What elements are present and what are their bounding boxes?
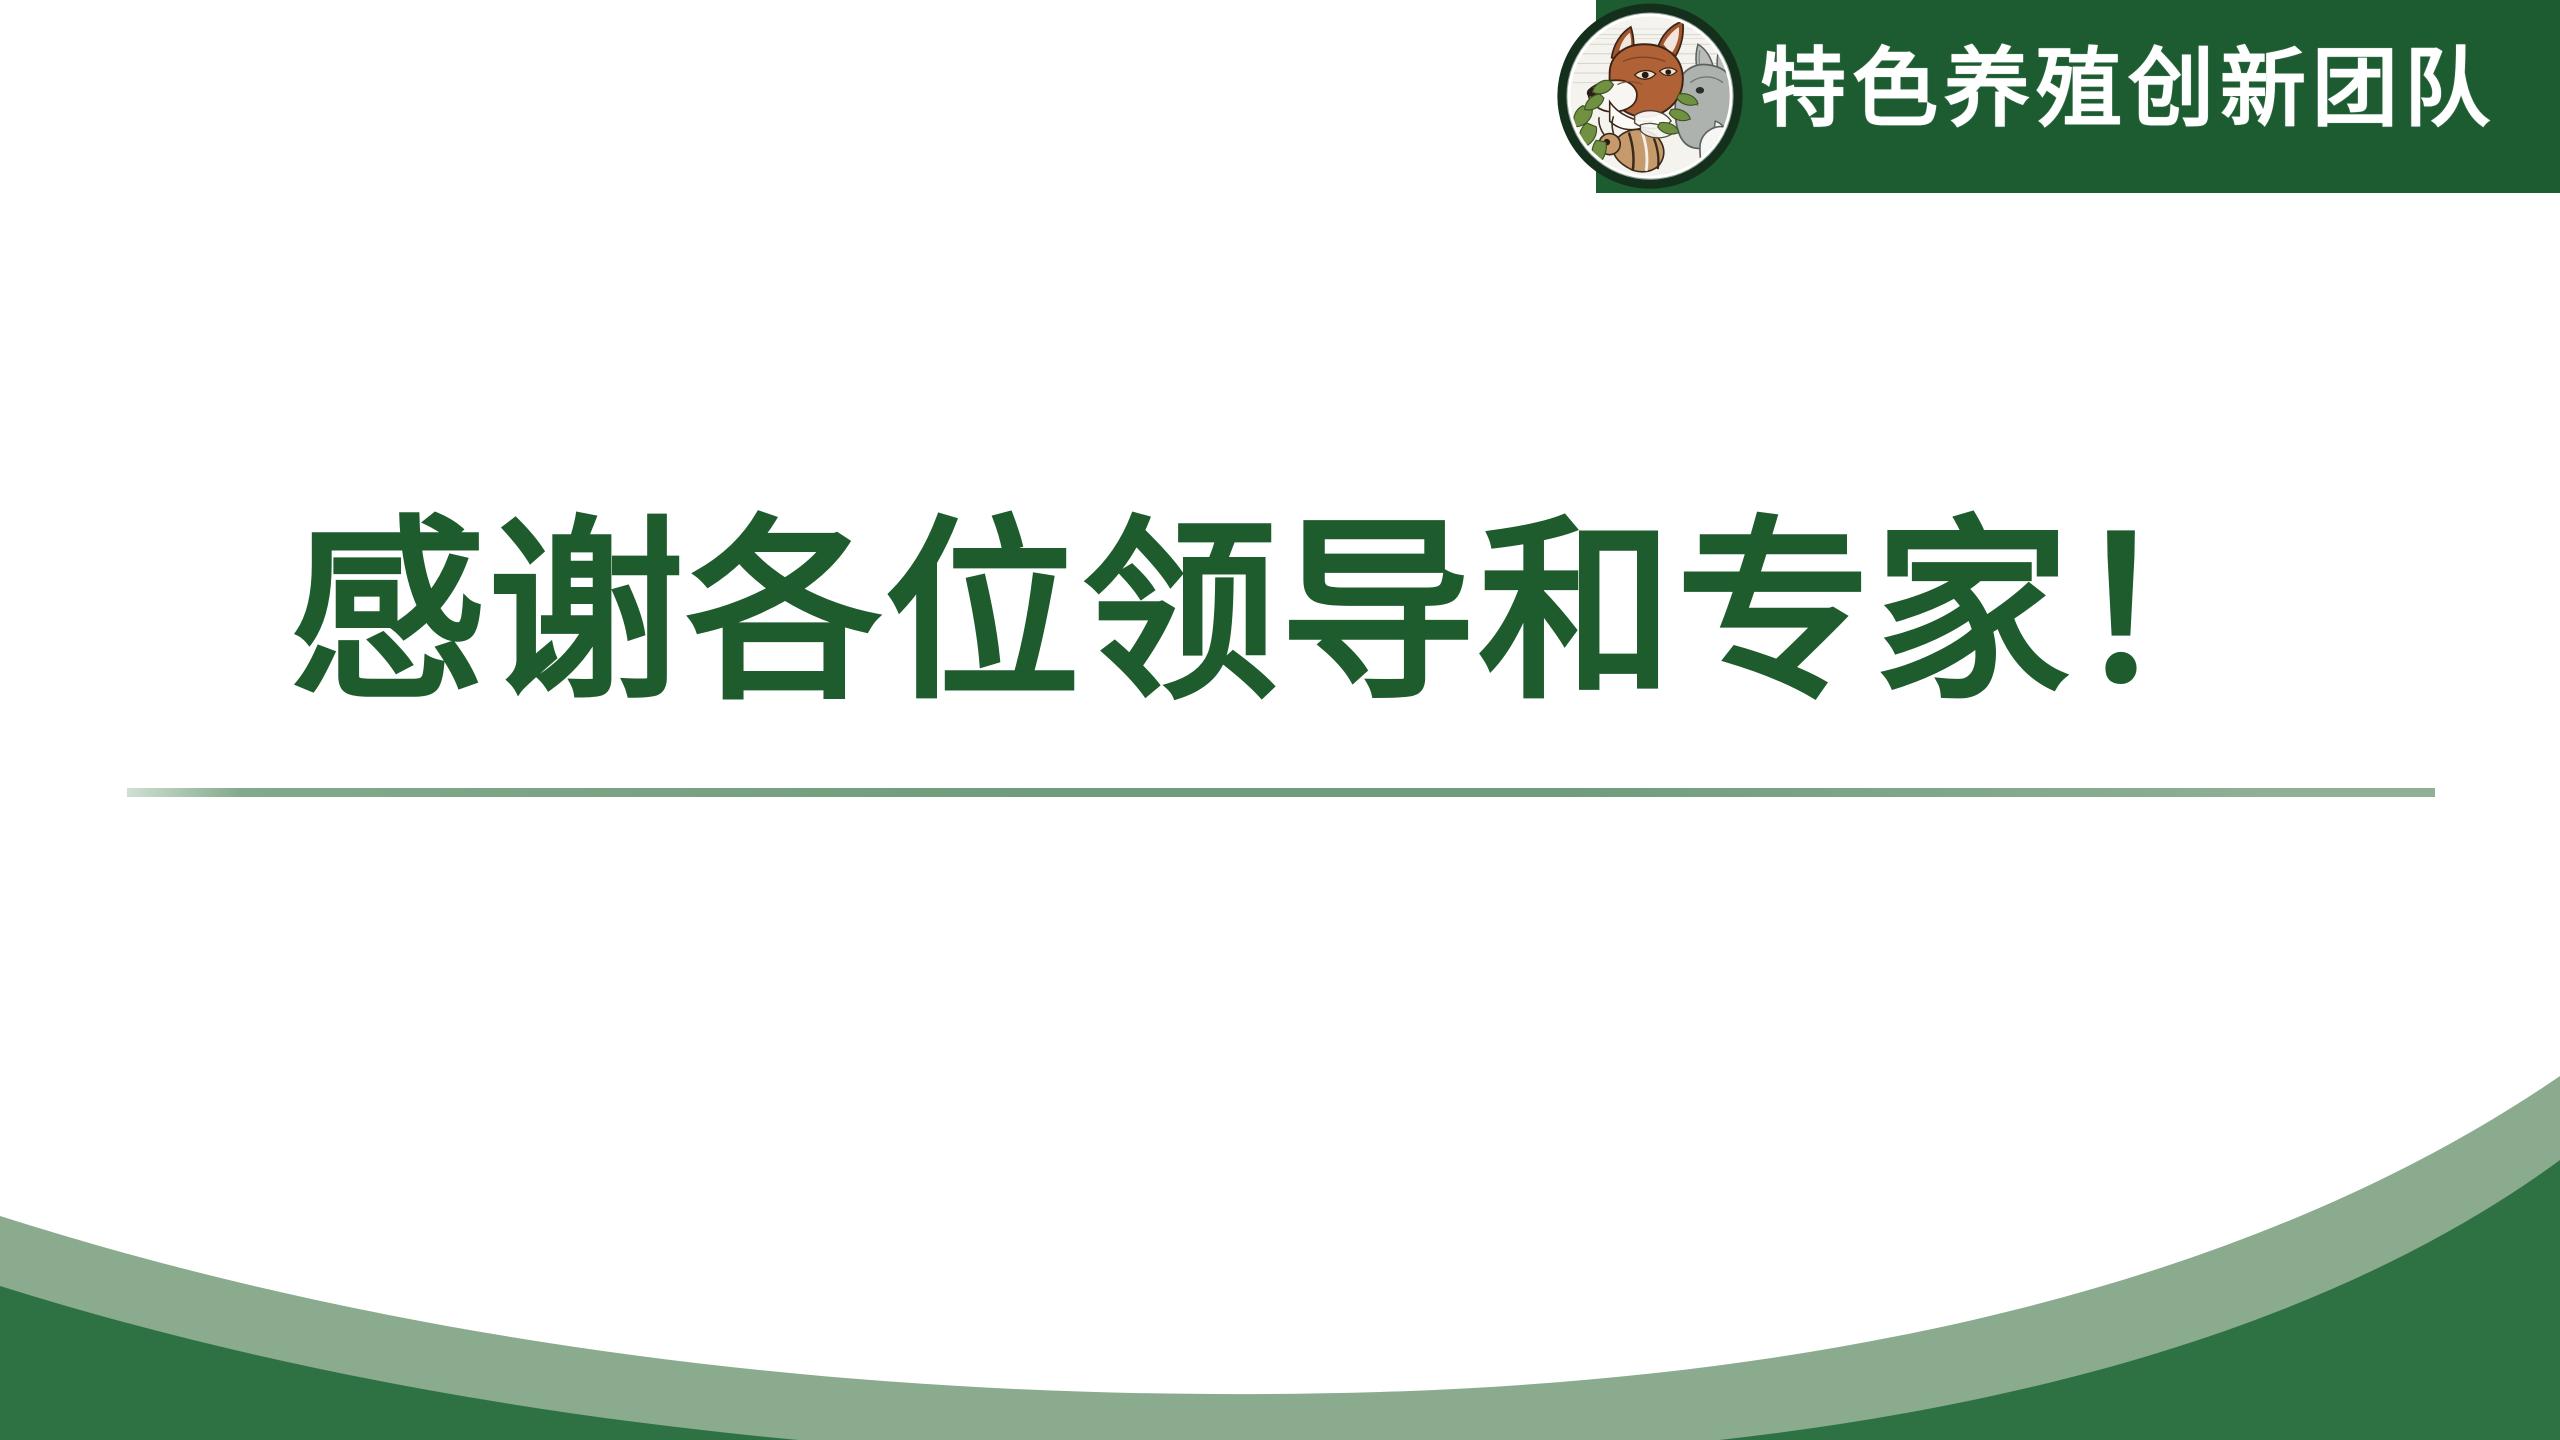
footer-wave-decoration xyxy=(0,1020,2560,1440)
team-emblem-logo xyxy=(1552,2,1748,194)
title-divider xyxy=(127,788,2435,797)
team-name-title: 特色养殖创新团队 xyxy=(1760,0,2560,160)
page-title: 感谢各位领导和专家！ xyxy=(0,508,2560,718)
presentation-slide: 特色养殖创新团队 xyxy=(0,0,2560,1440)
